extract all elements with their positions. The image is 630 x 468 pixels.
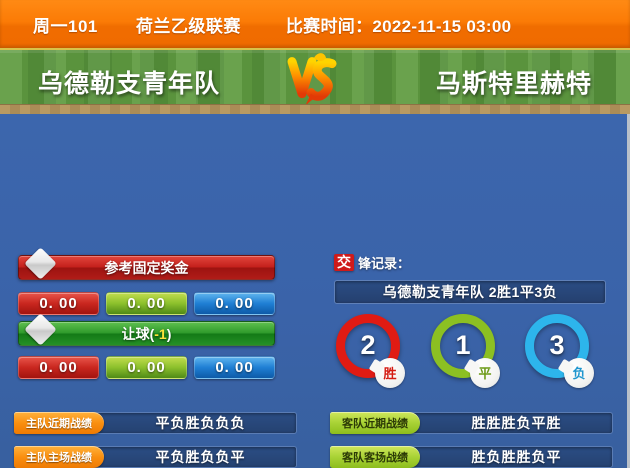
handicap-value: -1	[154, 326, 166, 342]
vs-icon	[280, 50, 350, 110]
ring-count: 1	[455, 332, 470, 359]
ring-bubble: 负	[564, 358, 594, 388]
fixed-odds-header-label: 参考固定奖金	[105, 258, 189, 278]
match-preview-card: 周一101 荷兰乙级联赛 比赛时间：2022-11-15 03:00 乌德勒支青…	[0, 0, 630, 468]
home-venue-form-label: 主队主场战绩	[14, 446, 104, 468]
header-bar: 周一101 荷兰乙级联赛 比赛时间：2022-11-15 03:00	[0, 0, 630, 48]
ring-bubble: 平	[470, 358, 500, 388]
handicap-odd-draw[interactable]: 0. 00	[106, 356, 187, 379]
away-venue-form-row: 客队客场战绩 胜负胜胜负平	[330, 445, 613, 468]
away-recent-form-label: 客队近期战绩	[330, 412, 420, 434]
h2h-title-label: 锋记录：	[358, 253, 410, 272]
h2h-ring-win: 2 胜	[336, 314, 408, 390]
h2h-badge-icon: 交	[334, 254, 354, 271]
team-banner: 乌德勒支青年队 马斯特里赫特	[0, 48, 630, 114]
fixed-odd-away[interactable]: 0. 00	[194, 292, 275, 315]
h2h-ring-draw: 1 平	[431, 314, 503, 390]
handicap-suffix: )	[167, 326, 172, 342]
fixed-odd-draw[interactable]: 0. 00	[106, 292, 187, 315]
home-venue-form-value: 平负胜负负平	[92, 446, 297, 468]
away-recent-form-row: 客队近期战绩 胜胜胜负平胜	[330, 411, 613, 435]
ring-count: 2	[360, 332, 375, 359]
round-label: 周一101	[33, 12, 98, 37]
away-venue-form-label: 客队客场战绩	[330, 446, 420, 468]
ring-count: 3	[549, 332, 564, 359]
league-label: 荷兰乙级联赛	[136, 12, 241, 37]
away-venue-form-value: 胜负胜胜负平	[408, 446, 613, 468]
home-venue-form-row: 主队主场战绩 平负胜负负平	[14, 445, 297, 468]
fixed-odds-row: 0. 00 0. 00 0. 00	[18, 292, 275, 315]
ring-label: 胜	[383, 367, 396, 380]
away-recent-form-value: 胜胜胜负平胜	[408, 412, 613, 434]
diamond-icon	[24, 313, 57, 346]
handicap-header-label: 让球(-1)	[122, 324, 172, 344]
kickoff-time-label: 比赛时间：2022-11-15 03:00	[286, 12, 512, 37]
home-recent-form-value: 平负胜负负负	[92, 412, 297, 434]
h2h-record: 乌德勒支青年队 2胜1平3负	[334, 280, 606, 304]
diamond-icon	[24, 247, 57, 280]
ring-label: 平	[478, 367, 491, 380]
handicap-prefix: 让球(	[122, 326, 155, 342]
handicap-odd-away[interactable]: 0. 00	[194, 356, 275, 379]
h2h-rings: 2 胜 1 平 3 负	[332, 314, 612, 394]
handicap-odd-home[interactable]: 0. 00	[18, 356, 99, 379]
home-team-name: 乌德勒支青年队	[38, 64, 220, 100]
away-team-name: 马斯特里赫特	[436, 64, 592, 100]
home-recent-form-label: 主队近期战绩	[14, 412, 104, 434]
h2h-title: 交 锋记录：	[334, 253, 410, 272]
ring-bubble: 胜	[375, 358, 405, 388]
h2h-ring-loss: 3 负	[525, 314, 597, 390]
ring-label: 负	[572, 367, 585, 380]
content-panel: 参考固定奖金 0. 00 0. 00 0. 00 让球(-1) 0. 00 0.…	[0, 114, 630, 468]
home-recent-form-row: 主队近期战绩 平负胜负负负	[14, 411, 297, 435]
handicap-odds-row: 0. 00 0. 00 0. 00	[18, 356, 275, 379]
fixed-odd-home[interactable]: 0. 00	[18, 292, 99, 315]
handicap-header[interactable]: 让球(-1)	[18, 321, 275, 346]
fixed-odds-header[interactable]: 参考固定奖金	[18, 255, 275, 280]
